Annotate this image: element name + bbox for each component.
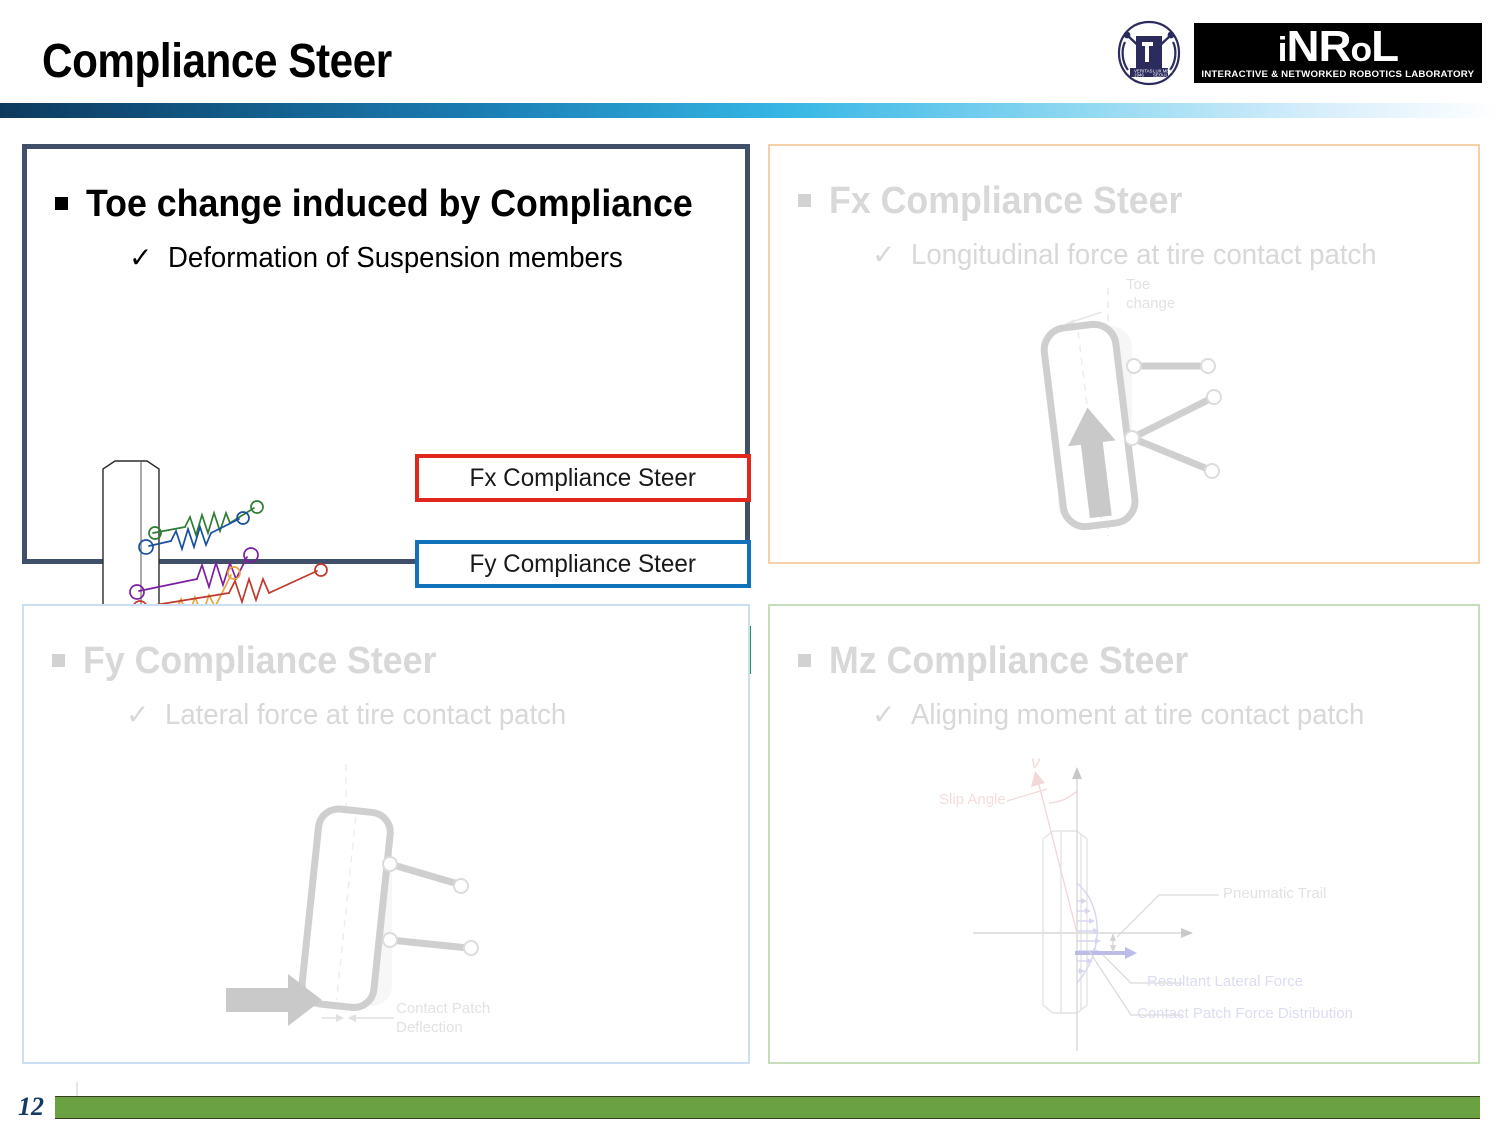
mz-subtext: Aligning moment at tire contact patch — [911, 699, 1364, 732]
main-heading-row: Toe change induced by Compliance — [55, 183, 745, 226]
footer-bar — [55, 1096, 1480, 1119]
fx-compliance-steer-diagram: Toe change — [1010, 278, 1270, 543]
fx-subtext: Longitudinal force at tire contact patch — [911, 239, 1377, 272]
fx-annotation-toe-change: Toe change — [1126, 276, 1175, 314]
fy-heading-row: Fy Compliance Steer — [52, 640, 748, 683]
main-subtext: Deformation of Suspension members — [168, 242, 623, 275]
fy-compliance-steer-diagram: Contact Patch Deflection — [218, 760, 558, 1050]
callout-fy-label: Fy Compliance Steer — [470, 550, 696, 579]
inrol-tagline: INTERACTIVE & NETWORKED ROBOTICS LABORAT… — [1202, 69, 1475, 80]
main-subtext-row: ✓ Deformation of Suspension members — [55, 242, 745, 275]
svg-text:SEOUL: SEOUL — [1153, 73, 1168, 78]
mz-annotation-resultant-lateral-force: Resultant Lateral Force — [1147, 973, 1303, 992]
check-icon: ✓ — [129, 244, 152, 272]
mz-annotation-contact-patch-force-distribution: Contact Patch Force Distribution — [1137, 1005, 1353, 1024]
callout-fx-compliance-steer[interactable]: Fx Compliance Steer — [415, 454, 751, 502]
header-gradient-rule — [0, 103, 1500, 118]
fy-annotation-contact-patch-deflection: Contact Patch Deflection — [396, 1000, 490, 1038]
mz-annotation-slip-angle: Slip Angle — [939, 791, 1006, 810]
check-icon: ✓ — [872, 241, 895, 269]
square-bullet-icon — [798, 194, 811, 207]
fx-subtext-row: ✓ Longitudinal force at tire contact pat… — [798, 239, 1478, 272]
footer-divider — [76, 1082, 78, 1096]
square-bullet-icon — [52, 654, 65, 667]
fy-heading: Fy Compliance Steer — [83, 640, 436, 683]
mz-compliance-steer-diagram: ν Slip Angle Pneumatic Trail Resultant L… — [935, 755, 1325, 1055]
fx-heading-row: Fx Compliance Steer — [798, 180, 1478, 223]
check-icon: ✓ — [872, 701, 895, 729]
logo-group: VERITAS LUX MEA 1946 SEOUL iNRoL INTERAC… — [1112, 16, 1482, 90]
main-heading: Toe change induced by Compliance — [86, 183, 693, 226]
panel-toe-change: Toe change induced by Compliance ✓ Defor… — [22, 144, 750, 564]
mz-heading-row: Mz Compliance Steer — [798, 640, 1478, 683]
inrol-wordmark: iNRoL — [1278, 27, 1398, 67]
square-bullet-icon — [55, 197, 68, 210]
square-bullet-icon — [798, 654, 811, 667]
fy-subtext: Lateral force at tire contact patch — [165, 699, 566, 732]
fx-heading: Fx Compliance Steer — [829, 180, 1182, 223]
svg-text:1946: 1946 — [1134, 73, 1144, 78]
page-number: 12 — [18, 1092, 44, 1122]
fy-subtext-row: ✓ Lateral force at tire contact patch — [52, 699, 748, 732]
mz-heading: Mz Compliance Steer — [829, 640, 1188, 683]
callout-fy-compliance-steer[interactable]: Fy Compliance Steer — [415, 540, 751, 588]
callout-fx-label: Fx Compliance Steer — [470, 464, 696, 493]
mz-subtext-row: ✓ Aligning moment at tire contact patch — [798, 699, 1478, 732]
mz-annotation-pneumatic-trail: Pneumatic Trail — [1223, 885, 1326, 904]
snu-emblem-icon: VERITAS LUX MEA 1946 SEOUL — [1112, 16, 1186, 90]
slide-canvas: Compliance Steer VERITAS — [0, 0, 1500, 1125]
page-title: Compliance Steer — [42, 34, 392, 89]
inrol-logo: iNRoL INTERACTIVE & NETWORKED ROBOTICS L… — [1194, 23, 1482, 83]
check-icon: ✓ — [126, 701, 149, 729]
mz-annotation-velocity-symbol: ν — [1031, 751, 1040, 774]
